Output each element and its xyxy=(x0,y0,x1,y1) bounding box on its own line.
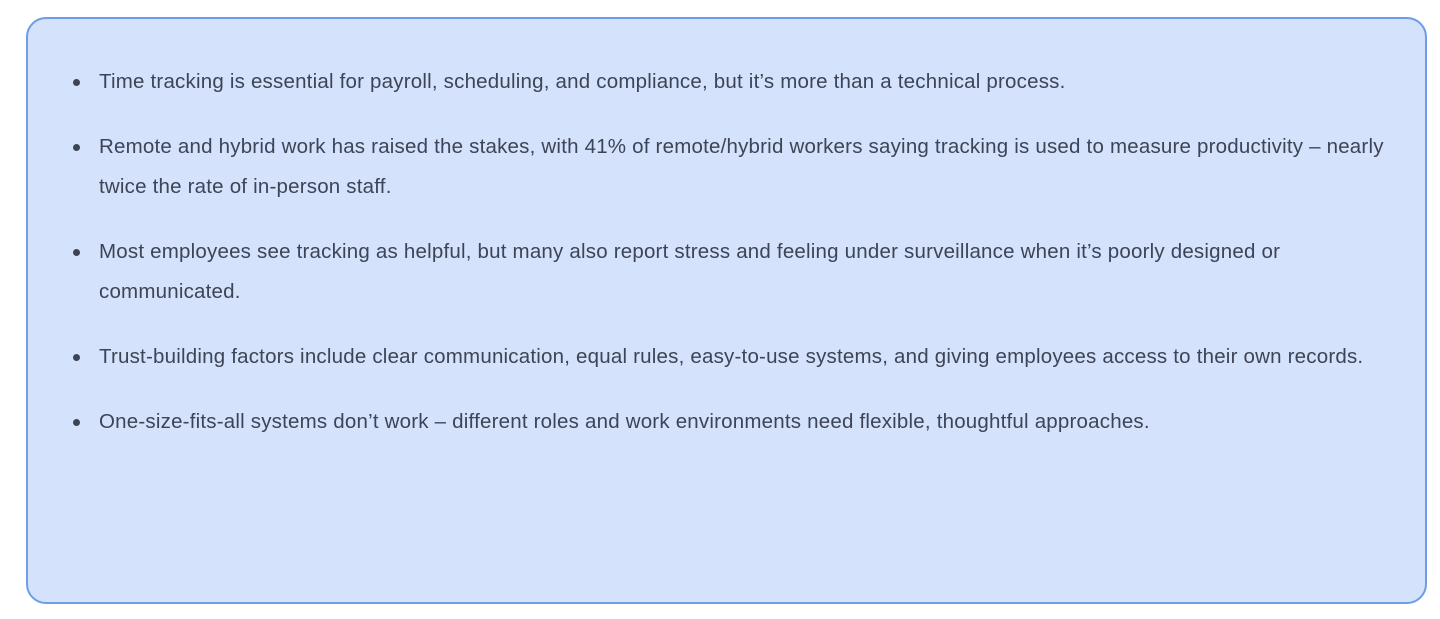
list-item-text: Trust-building factors include clear com… xyxy=(99,337,1385,377)
key-takeaways-callout: Time tracking is essential for payroll, … xyxy=(26,17,1427,604)
bullet-point-icon xyxy=(73,79,80,86)
list-item-text: Remote and hybrid work has raised the st… xyxy=(99,127,1385,207)
list-item-text: One-size-fits-all systems don’t work – d… xyxy=(99,402,1385,442)
list-item-text: Most employees see tracking as helpful, … xyxy=(99,232,1385,312)
bullet-point-icon xyxy=(73,419,80,426)
list-item-text: Time tracking is essential for payroll, … xyxy=(99,62,1385,102)
page-root: Time tracking is essential for payroll, … xyxy=(0,0,1440,619)
bullet-point-icon xyxy=(73,354,80,361)
key-takeaways-list: Time tracking is essential for payroll, … xyxy=(28,19,1425,482)
bullet-point-icon xyxy=(73,249,80,256)
list-item: Remote and hybrid work has raised the st… xyxy=(63,127,1385,207)
list-item: Time tracking is essential for payroll, … xyxy=(63,62,1385,102)
list-item: Most employees see tracking as helpful, … xyxy=(63,232,1385,312)
list-item: One-size-fits-all systems don’t work – d… xyxy=(63,402,1385,442)
list-item: Trust-building factors include clear com… xyxy=(63,337,1385,377)
bullet-point-icon xyxy=(73,144,80,151)
